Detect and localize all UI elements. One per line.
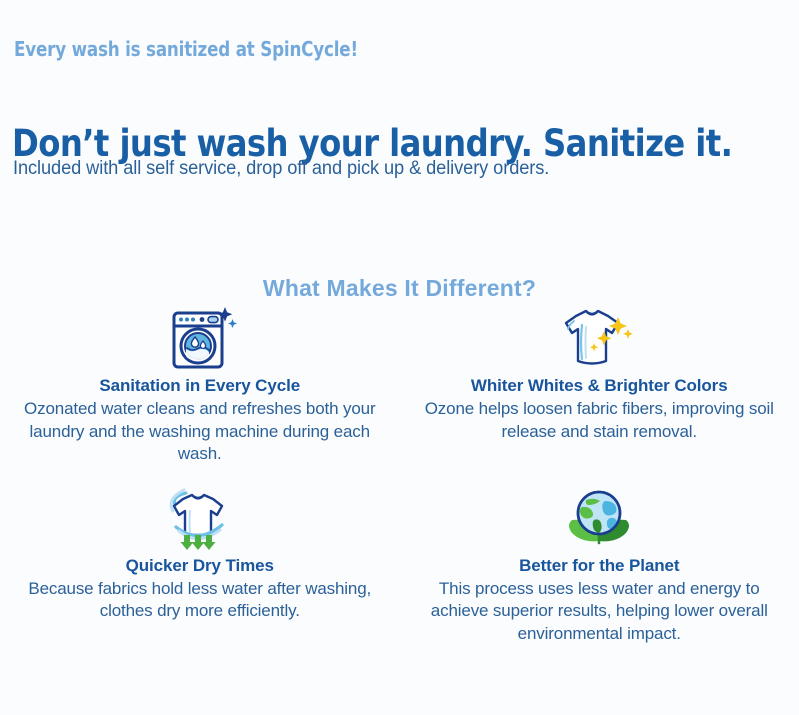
- feature-row: Sanitation in Every Cycle Ozonated water…: [0, 300, 799, 466]
- feature-quicker-dry: Quicker Dry Times Because fabrics hold l…: [0, 486, 400, 646]
- sparkling-tshirt-icon: [418, 300, 782, 372]
- feature-whiter-whites: Whiter Whites & Brighter Colors Ozone he…: [400, 300, 799, 466]
- feature-better-planet: Better for the Planet This process uses …: [400, 486, 799, 646]
- globe-leaves-icon: [418, 486, 782, 552]
- promo-page: Every wash is sanitized at SpinCycle! Do…: [0, 0, 799, 715]
- drying-tshirt-icon: [18, 486, 382, 552]
- feature-body: Ozone helps loosen fabric fibers, improv…: [418, 398, 782, 443]
- section-heading: What Makes It Different?: [0, 275, 799, 302]
- feature-sanitation: Sanitation in Every Cycle Ozonated water…: [0, 300, 400, 466]
- feature-title: Quicker Dry Times: [18, 556, 382, 576]
- feature-body: Ozonated water cleans and refreshes both…: [18, 398, 382, 466]
- page-title: Don’t just wash your laundry. Sanitize i…: [12, 125, 732, 162]
- feature-row: Quicker Dry Times Because fabrics hold l…: [0, 486, 799, 646]
- feature-body: Because fabrics hold less water after wa…: [18, 578, 382, 623]
- feature-title: Sanitation in Every Cycle: [18, 376, 382, 396]
- feature-body: This process uses less water and energy …: [418, 578, 782, 646]
- feature-title: Whiter Whites & Brighter Colors: [418, 376, 782, 396]
- feature-title: Better for the Planet: [418, 556, 782, 576]
- feature-grid: Sanitation in Every Cycle Ozonated water…: [0, 300, 799, 646]
- subtitle-text: Included with all self service, drop off…: [13, 158, 549, 180]
- washing-machine-icon: [18, 300, 382, 372]
- eyebrow-text: Every wash is sanitized at SpinCycle!: [14, 37, 358, 61]
